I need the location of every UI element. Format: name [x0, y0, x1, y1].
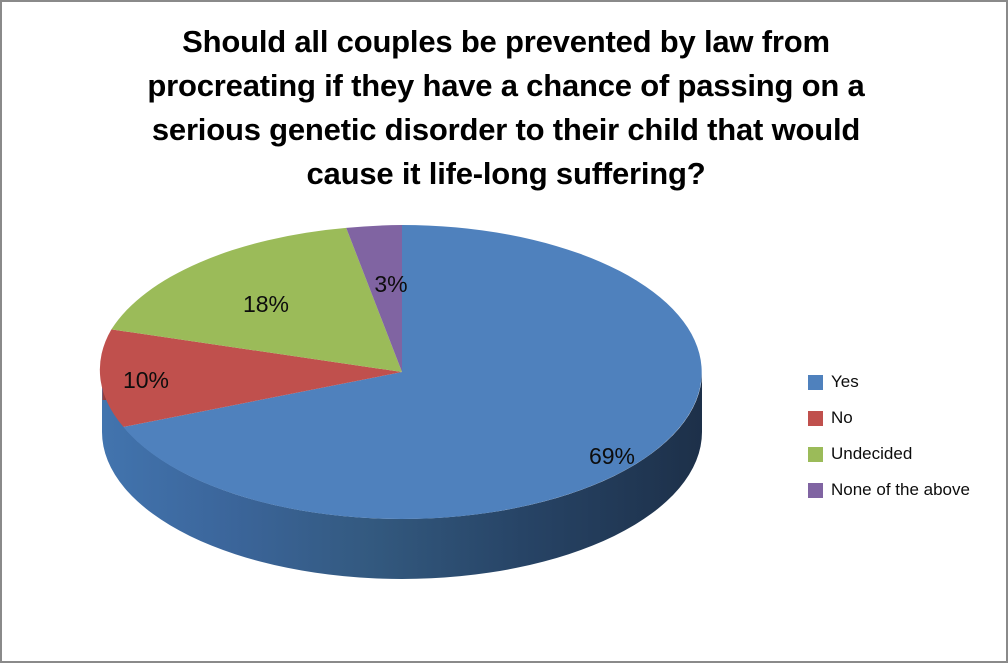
- legend-swatch-icon: [808, 483, 823, 498]
- legend-swatch-icon: [808, 447, 823, 462]
- legend-item-none-of-the-above[interactable]: None of the above: [808, 472, 998, 508]
- data-label-no: 10%: [123, 367, 169, 393]
- legend-item-label: Yes: [831, 372, 859, 392]
- legend-item-label: None of the above: [831, 480, 970, 500]
- pie-slices: [100, 225, 702, 519]
- legend-item-yes[interactable]: Yes: [808, 364, 998, 400]
- data-label-none-of-the-above: 3%: [374, 271, 407, 297]
- chart-title: Should all couples be prevented by law f…: [62, 20, 950, 196]
- chart-legend: Yes No Undecided None of the above: [808, 364, 998, 508]
- pie-chart-graphic: 69% 10% 18% 3%: [2, 202, 792, 642]
- legend-item-label: No: [831, 408, 853, 428]
- data-label-undecided: 18%: [243, 291, 289, 317]
- legend-item-undecided[interactable]: Undecided: [808, 436, 998, 472]
- chart-canvas: Should all couples be prevented by law f…: [0, 0, 1008, 663]
- legend-item-label: Undecided: [831, 444, 912, 464]
- legend-swatch-icon: [808, 375, 823, 390]
- data-label-yes: 69%: [589, 443, 635, 469]
- pie-plot-area: 69% 10% 18% 3%: [2, 202, 792, 642]
- legend-item-no[interactable]: No: [808, 400, 998, 436]
- legend-swatch-icon: [808, 411, 823, 426]
